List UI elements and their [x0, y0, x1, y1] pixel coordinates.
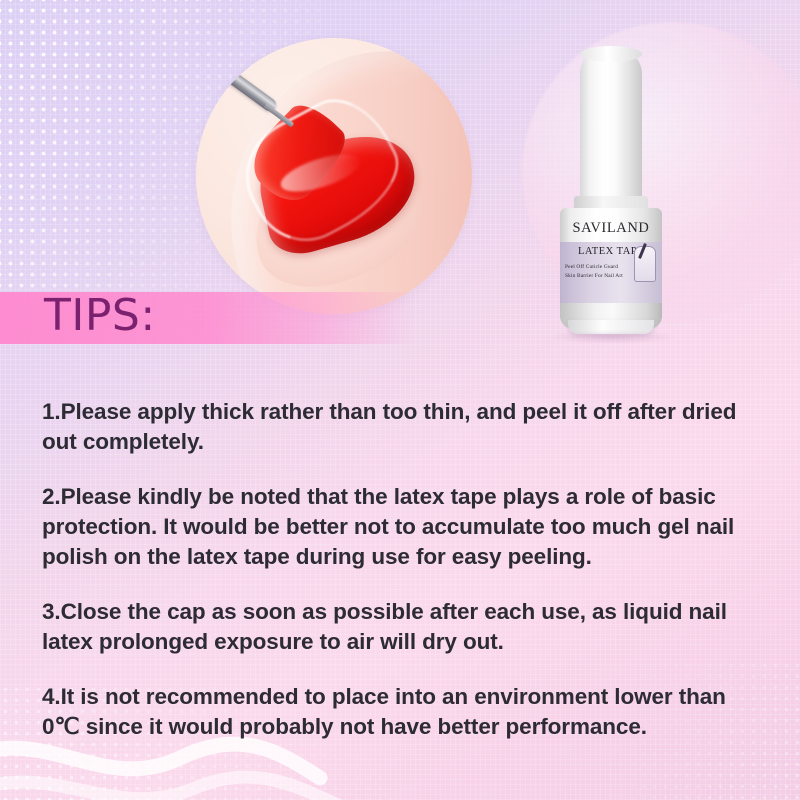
- bottle-cap-top: [580, 46, 642, 62]
- product-tagline-1: Peel Off Cuticle Guard: [565, 264, 637, 270]
- product-tagline-2: Skin Barrier For Nail Art: [565, 273, 637, 279]
- nail-brush-icon: [634, 246, 656, 282]
- tip-item: 2.Please kindly be noted that the latex …: [42, 482, 758, 572]
- bottle-cap: [580, 48, 642, 200]
- tip-item: 1.Please apply thick rather than too thi…: [42, 397, 758, 457]
- tips-list: 1.Please apply thick rather than too thi…: [42, 374, 758, 742]
- product-usage-photo: [196, 38, 472, 314]
- tip-item: 3.Close the cap as soon as possible afte…: [42, 597, 758, 657]
- promo-page: SAVILAND LATEX TAPE Peel Off Cuticle Gua…: [0, 0, 800, 800]
- tip-item: 4.It is not recommended to place into an…: [42, 682, 758, 742]
- tips-heading: TIPS:: [44, 288, 156, 344]
- brand-name: SAVILAND: [560, 220, 662, 237]
